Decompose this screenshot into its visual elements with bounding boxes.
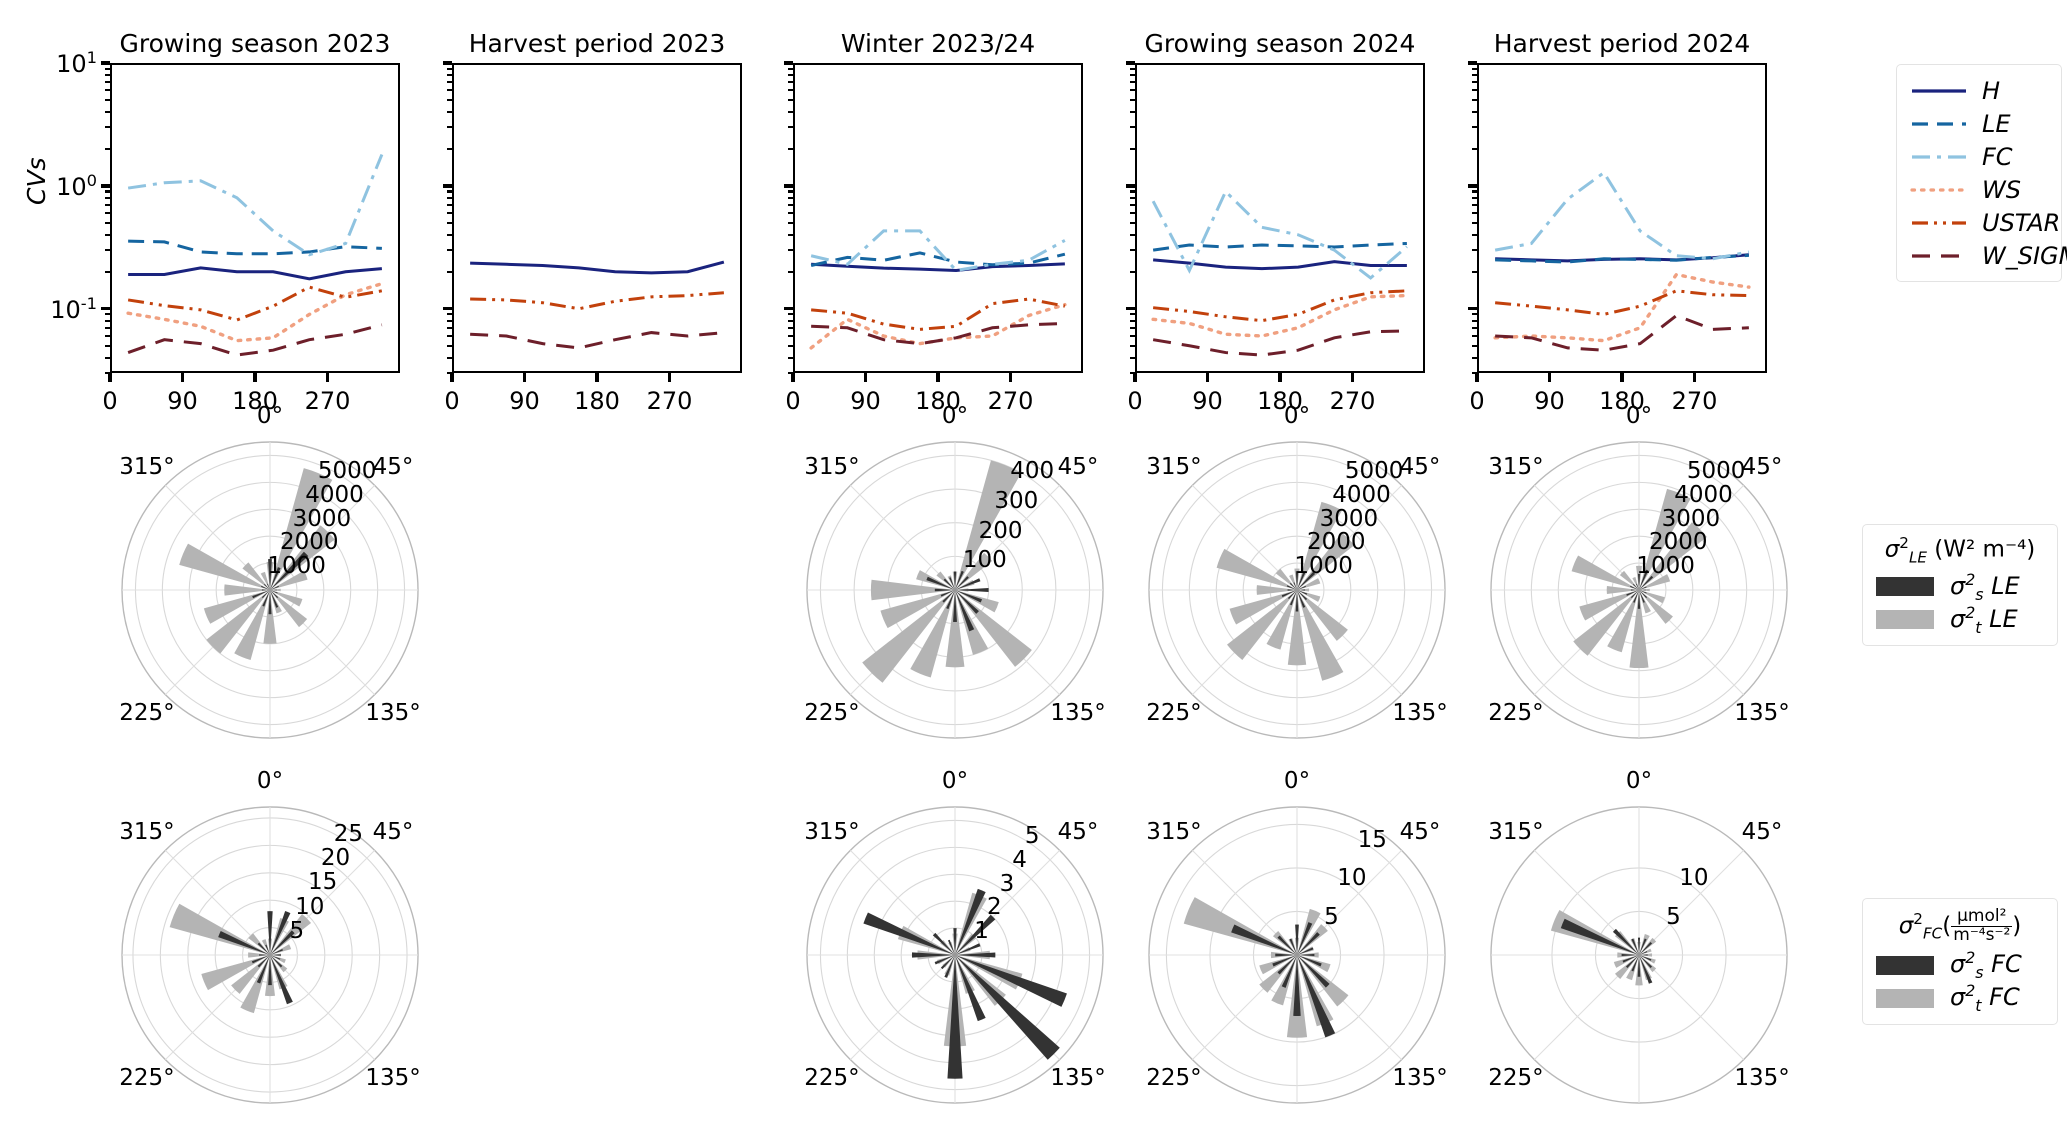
x-tick <box>595 373 598 382</box>
rose-radial-tick-label: 5000 <box>1687 458 1746 484</box>
rose-radial-tick-label: 2000 <box>1649 529 1708 555</box>
x-tick-label: 0 <box>1469 387 1484 415</box>
rose-radial-tick-label: 5 <box>290 918 305 944</box>
rose-radial-tick-label: 3000 <box>1662 506 1721 532</box>
rose-canvas <box>1147 440 1447 740</box>
le-wind-rose-1: 0°45°135°225°315°10002000300040005000 <box>120 440 420 740</box>
line-panel-5: Harvest period 2024090180270 <box>1477 63 1767 373</box>
rose-radial-tick-label: 5 <box>1324 904 1339 930</box>
rose-radial-tick-label: 2 <box>987 894 1002 920</box>
rose-direction-label: 225° <box>119 700 174 726</box>
rose-bar-sigma-t <box>1572 556 1639 590</box>
series-LE <box>1153 243 1407 250</box>
series-FC <box>1495 173 1749 259</box>
rose-direction-label: 0° <box>942 768 968 794</box>
rose-direction-label: 0° <box>1626 403 1652 429</box>
rose-direction-label: 135° <box>1392 1065 1447 1091</box>
rose-bar-sigma-t <box>1217 549 1297 590</box>
series-WS <box>1495 275 1749 341</box>
fc-wind-rose-4: 0°45°135°225°315°51015 <box>1147 805 1447 1105</box>
rose-direction-label: 315° <box>804 819 859 845</box>
y-tick-label: 100 <box>56 171 97 201</box>
y-tick <box>1126 307 1135 310</box>
x-tick <box>253 373 256 382</box>
rose-radial-tick-label: 1000 <box>1636 553 1695 579</box>
x-tick-label: 180 <box>574 387 620 415</box>
variance-legend-label: σ2t LE <box>1950 603 2018 637</box>
x-tick <box>108 373 111 382</box>
y-tick <box>784 61 793 64</box>
le-variance-legend: σ2LE (W² m⁻⁴) σ2s LEσ2t LE <box>1862 524 2058 646</box>
rose-direction-label: 225° <box>804 1065 859 1091</box>
series-FC <box>128 155 382 255</box>
series-layer <box>793 63 1083 373</box>
line-panel-2: Harvest period 2023090180270 <box>452 63 742 373</box>
rose-direction-label: 135° <box>1050 700 1105 726</box>
rose-radial-tick-label: 200 <box>979 518 1023 544</box>
line-panel-4: Growing season 2024090180270 <box>1135 63 1425 373</box>
rose-direction-label: 0° <box>1284 768 1310 794</box>
rose-bar-sigma-t <box>170 904 270 955</box>
x-tick-label: 270 <box>1330 387 1376 415</box>
rose-direction-label: 225° <box>1146 1065 1201 1091</box>
rose-radial-tick-label: 10 <box>295 894 324 920</box>
line-panel-1: Growing season 202310110010-1090180270 <box>110 63 400 373</box>
legend-label: W_SIGMA <box>1982 242 2067 270</box>
fc-wind-rose-1: 0°45°135°225°315°510152025 <box>120 805 420 1105</box>
series-H <box>811 264 1065 271</box>
x-tick-label: 0 <box>444 387 459 415</box>
rose-direction-label: 315° <box>804 454 859 480</box>
le-wind-rose-5: 0°45°135°225°315°10002000300040005000 <box>1489 440 1789 740</box>
rose-direction-label: 315° <box>1488 454 1543 480</box>
y-tick <box>101 61 110 64</box>
legend-line-sample <box>1910 247 1968 265</box>
figure-root: CVs Growing season 202310110010-10901802… <box>0 0 2067 1144</box>
rose-direction-label: 135° <box>365 1065 420 1091</box>
y-tick <box>443 61 452 64</box>
legend-item-WS: WS <box>1910 173 2048 206</box>
series-W_SIGMA <box>1495 316 1749 351</box>
rose-canvas <box>1489 805 1789 1105</box>
x-tick-label: 270 <box>647 387 693 415</box>
rose-direction-label: 0° <box>257 768 283 794</box>
rose-radial-tick-label: 1000 <box>267 553 326 579</box>
rose-direction-label: 315° <box>1146 454 1201 480</box>
fc-units-denominator: m⁻⁴s⁻² <box>1951 927 2012 945</box>
series-USTAR <box>128 287 382 320</box>
series-layer <box>110 63 400 373</box>
color-swatch <box>1876 610 1934 629</box>
x-tick <box>1693 373 1696 382</box>
y-tick <box>1468 61 1477 64</box>
panel-title: Winter 2023/24 <box>793 29 1083 58</box>
rose-direction-label: 225° <box>1488 1065 1543 1091</box>
variance-legend-item: σ2s LE <box>1876 570 2044 603</box>
series-W_SIGMA <box>128 325 382 355</box>
rose-radial-tick-label: 4000 <box>1332 482 1391 508</box>
panel-title: Harvest period 2024 <box>1477 29 1767 58</box>
rose-radial-tick-label: 4000 <box>305 482 364 508</box>
rose-radial-tick-label: 10 <box>1679 865 1708 891</box>
rose-radial-tick-label: 20 <box>321 845 350 871</box>
variance-legend-label: σ2s LE <box>1950 570 2020 604</box>
variance-legend-item: σ2t FC <box>1876 982 2044 1015</box>
rose-direction-label: 225° <box>119 1065 174 1091</box>
panel-title: Growing season 2024 <box>1135 29 1425 58</box>
y-tick <box>443 184 452 187</box>
legend-item-USTAR: USTAR <box>1910 206 2048 239</box>
rose-radial-tick-label: 5000 <box>1345 458 1404 484</box>
rose-direction-label: 135° <box>1734 1065 1789 1091</box>
line-series-legend: HLEFCWSUSTARW_SIGMA <box>1896 64 2062 282</box>
legend-item-H: H <box>1910 74 2048 107</box>
series-H <box>470 262 724 273</box>
le-wind-rose-3: 0°45°135°225°315°100200300400 <box>805 440 1105 740</box>
rose-radial-tick-label: 5 <box>1025 823 1040 849</box>
rose-bar-sigma-s <box>218 931 270 955</box>
rose-bar-sigma-s <box>270 955 293 1004</box>
rose-bar-sigma-t <box>898 926 955 955</box>
rose-direction-label: 135° <box>1050 1065 1105 1091</box>
rose-radial-tick-label: 1 <box>974 918 989 944</box>
x-tick <box>864 373 867 382</box>
x-tick <box>1475 373 1478 382</box>
rose-radial-tick-label: 2000 <box>1307 529 1366 555</box>
legend-label: H <box>1982 77 2000 105</box>
legend-item-W_SIGMA: W_SIGMA <box>1910 239 2048 272</box>
rose-direction-label: 45° <box>1058 819 1099 845</box>
panel-title: Growing season 2023 <box>110 29 400 58</box>
rose-radial-tick-label: 10 <box>1337 865 1366 891</box>
rose-radial-tick-label: 2000 <box>280 529 339 555</box>
rose-radial-tick-label: 100 <box>963 547 1007 573</box>
le-legend-title: σ2LE (W² m⁻⁴) <box>1876 534 2044 566</box>
le-legend-units: (W² m⁻⁴) <box>1934 537 2035 563</box>
series-USTAR <box>470 293 724 309</box>
y-tick <box>1126 184 1135 187</box>
series-layer <box>1135 63 1425 373</box>
rose-radial-tick-label: 25 <box>334 821 363 847</box>
rose-direction-label: 135° <box>1734 700 1789 726</box>
fc-wind-rose-3: 0°45°135°225°315°12345 <box>805 805 1105 1105</box>
x-tick-label: 90 <box>167 387 198 415</box>
fc-variance-legend: σ2FC(μmol²m⁻⁴s⁻²) σ2s FCσ2t FC <box>1862 898 2058 1025</box>
rose-radial-tick-label: 400 <box>1010 458 1054 484</box>
x-tick-label: 270 <box>988 387 1034 415</box>
legend-line-sample <box>1910 214 1968 232</box>
series-H <box>128 268 382 279</box>
y-tick <box>784 184 793 187</box>
fc-wind-rose-5: 0°45°135°225°315°510 <box>1489 805 1789 1105</box>
rose-bar-sigma-t <box>1551 910 1639 955</box>
x-tick-label: 90 <box>850 387 881 415</box>
x-tick <box>668 373 671 382</box>
rose-radial-tick-label: 1000 <box>1294 553 1353 579</box>
rose-bar-sigma-s <box>1231 924 1297 955</box>
x-tick <box>523 373 526 382</box>
color-swatch <box>1876 577 1934 596</box>
variance-legend-item: σ2s FC <box>1876 949 2044 982</box>
rose-direction-label: 45° <box>1400 819 1441 845</box>
rose-direction-label: 45° <box>373 454 414 480</box>
legend-line-sample <box>1910 148 1968 166</box>
x-tick <box>1133 373 1136 382</box>
legend-item-FC: FC <box>1910 140 2048 173</box>
y-tick <box>101 307 110 310</box>
rose-radial-tick-label: 5 <box>1666 904 1681 930</box>
x-tick <box>1351 373 1354 382</box>
rose-direction-label: 315° <box>1146 819 1201 845</box>
color-swatch <box>1876 956 1934 975</box>
legend-line-sample <box>1910 181 1968 199</box>
rose-canvas <box>1489 440 1789 740</box>
le-wind-rose-4: 0°45°135°225°315°10002000300040005000 <box>1147 440 1447 740</box>
x-tick-label: 0 <box>102 387 117 415</box>
y-tick-label: 10-1 <box>50 294 97 324</box>
series-USTAR <box>1153 291 1407 321</box>
rose-canvas <box>805 440 1105 740</box>
rose-direction-label: 0° <box>1626 768 1652 794</box>
rose-direction-label: 225° <box>804 700 859 726</box>
x-tick-label: 90 <box>1192 387 1223 415</box>
rose-radial-tick-label: 3000 <box>1320 506 1379 532</box>
rose-direction-label: 0° <box>942 403 968 429</box>
x-tick-label: 0 <box>1127 387 1142 415</box>
x-tick-label: 0 <box>785 387 800 415</box>
rose-canvas <box>805 805 1105 1105</box>
fc-legend-title: σ2FC(μmol²m⁻⁴s⁻²) <box>1876 908 2044 945</box>
x-tick <box>1206 373 1209 382</box>
rose-direction-label: 45° <box>1742 819 1783 845</box>
legend-item-LE: LE <box>1910 107 2048 140</box>
x-tick <box>1548 373 1551 382</box>
legend-line-sample <box>1910 115 1968 133</box>
series-WS <box>1153 296 1407 336</box>
rose-direction-label: 45° <box>1058 454 1099 480</box>
series-layer <box>452 63 742 373</box>
y-tick <box>1468 184 1477 187</box>
panel-title: Harvest period 2023 <box>452 29 742 58</box>
x-tick <box>1009 373 1012 382</box>
series-W_SIGMA <box>470 333 724 348</box>
rose-radial-tick-label: 4 <box>1012 847 1027 873</box>
legend-line-sample <box>1910 82 1968 100</box>
x-tick-label: 90 <box>509 387 540 415</box>
legend-label: USTAR <box>1982 209 2060 237</box>
series-USTAR <box>1495 291 1749 315</box>
rose-radial-tick-label: 3 <box>1000 871 1015 897</box>
rose-direction-label: 225° <box>1488 700 1543 726</box>
rose-radial-tick-label: 300 <box>994 488 1038 514</box>
y-tick <box>1468 307 1477 310</box>
series-W_SIGMA <box>1153 331 1407 355</box>
y-axis-label: CVs <box>22 157 51 205</box>
y-tick <box>443 307 452 310</box>
rose-direction-label: 135° <box>365 700 420 726</box>
rose-direction-label: 135° <box>1392 700 1447 726</box>
rose-direction-label: 45° <box>1742 454 1783 480</box>
rose-direction-label: 315° <box>1488 819 1543 845</box>
x-tick <box>936 373 939 382</box>
rose-direction-label: 0° <box>257 403 283 429</box>
rose-canvas <box>1147 805 1447 1105</box>
rose-bar-sigma-t <box>1184 897 1297 955</box>
x-tick <box>326 373 329 382</box>
rose-radial-tick-label: 3000 <box>293 506 352 532</box>
rose-direction-label: 0° <box>1284 403 1310 429</box>
legend-label: WS <box>1982 176 2021 204</box>
rose-direction-label: 315° <box>119 819 174 845</box>
y-tick <box>101 184 110 187</box>
rose-radial-tick-label: 15 <box>308 869 337 895</box>
rose-bar-sigma-s <box>1561 919 1639 955</box>
rose-canvas <box>120 805 420 1105</box>
variance-legend-label: σ2t FC <box>1950 981 2020 1015</box>
legend-label: FC <box>1982 143 2013 171</box>
variance-legend-item: σ2t LE <box>1876 603 2044 636</box>
rose-direction-label: 315° <box>119 454 174 480</box>
color-swatch <box>1876 989 1934 1008</box>
x-tick <box>1278 373 1281 382</box>
series-layer <box>1477 63 1767 373</box>
variance-legend-label: σ2s FC <box>1950 948 2022 982</box>
rose-direction-label: 45° <box>373 819 414 845</box>
x-tick-label: 90 <box>1534 387 1565 415</box>
rose-radial-tick-label: 4000 <box>1674 482 1733 508</box>
line-panel-3: Winter 2023/24090180270 <box>793 63 1083 373</box>
rose-canvas <box>120 440 420 740</box>
x-tick-label: 270 <box>305 387 351 415</box>
x-tick <box>450 373 453 382</box>
y-tick <box>784 307 793 310</box>
y-tick <box>1126 61 1135 64</box>
rose-direction-label: 45° <box>1400 454 1441 480</box>
rose-direction-label: 225° <box>1146 700 1201 726</box>
rose-radial-tick-label: 15 <box>1358 827 1387 853</box>
rose-radial-tick-label: 5000 <box>318 458 377 484</box>
x-tick <box>181 373 184 382</box>
x-tick-label: 270 <box>1672 387 1718 415</box>
x-tick <box>1620 373 1623 382</box>
legend-label: LE <box>1982 110 2011 138</box>
x-tick <box>791 373 794 382</box>
y-tick-label: 101 <box>56 48 97 78</box>
